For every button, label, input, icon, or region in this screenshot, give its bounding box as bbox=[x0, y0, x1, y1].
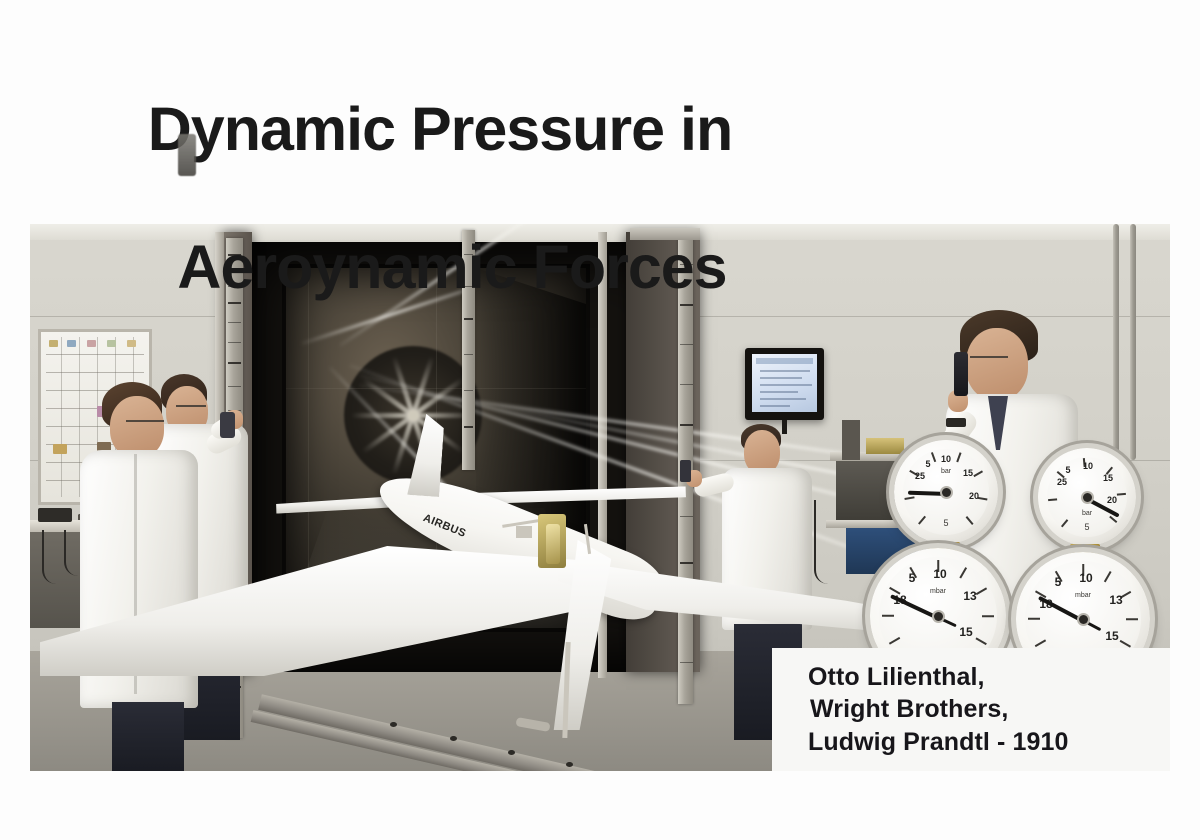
control-box bbox=[866, 438, 904, 454]
pressure-gauge-top-right: 5 10 15 20 25 bar 5 bbox=[1038, 448, 1136, 546]
gauge-unit: 5 bbox=[1084, 522, 1089, 532]
caption-line-1: Otto Lilienthal, bbox=[808, 661, 1170, 694]
gauge-number: 10 bbox=[933, 567, 946, 581]
title-line-1: Dynamic Pressure in bbox=[0, 95, 880, 164]
gauge-number: 20 bbox=[969, 491, 979, 501]
gauge-brand: bar bbox=[941, 468, 951, 475]
gauge-number: 10 bbox=[1083, 461, 1093, 471]
gauge-number: 15 bbox=[963, 468, 973, 478]
gauge-brand: mbar bbox=[1075, 592, 1091, 599]
bench-device bbox=[38, 508, 72, 522]
caption-line-2: Wright Brothers, bbox=[808, 693, 1170, 726]
rail-control-handle bbox=[220, 412, 235, 438]
handheld-radio bbox=[954, 352, 968, 396]
gauge-number: 5 bbox=[925, 459, 930, 469]
gauge-brand: bar bbox=[1082, 510, 1092, 517]
gauge-unit: 5 bbox=[943, 518, 948, 528]
floor-cable bbox=[814, 500, 834, 584]
wristwatch bbox=[946, 418, 966, 427]
gauge-number: 20 bbox=[1107, 495, 1117, 505]
pressure-gauge-top-left: 5 10 15 20 25 bar 5 bbox=[894, 440, 998, 544]
gauge-number: 5 bbox=[909, 571, 916, 585]
title-overlay-artifact bbox=[178, 134, 196, 176]
sensor-module bbox=[546, 524, 560, 564]
gauge-number: 5 bbox=[1065, 465, 1070, 475]
gauge-number: 5 bbox=[1055, 575, 1062, 589]
gauge-number: 13 bbox=[963, 589, 976, 603]
mount-block bbox=[516, 526, 532, 538]
gauge-number: 15 bbox=[1105, 629, 1118, 643]
wall-pipe bbox=[1130, 224, 1136, 460]
caption-box: Otto Lilienthal, Wright Brothers, Ludwig… bbox=[772, 648, 1170, 771]
wall-pipe bbox=[1113, 224, 1119, 454]
handheld-device bbox=[680, 460, 691, 482]
gauge-brand: mbar bbox=[930, 588, 946, 595]
monitor-stand bbox=[782, 420, 787, 434]
gauge-number: 25 bbox=[915, 471, 925, 481]
wall-bracket bbox=[842, 420, 860, 460]
caption-line-3: Ludwig Prandtl - 1910 bbox=[808, 726, 1170, 759]
gauge-number: 15 bbox=[1103, 473, 1113, 483]
page-title: Dynamic Pressure in Aeroynamic Forces bbox=[0, 26, 880, 371]
gauge-number: 10 bbox=[941, 454, 951, 464]
gauge-number: 15 bbox=[959, 625, 972, 639]
title-line-2: Aeroynamic Forces bbox=[24, 233, 880, 302]
gauge-number: 25 bbox=[1057, 477, 1067, 487]
gauge-number: 10 bbox=[1079, 571, 1092, 585]
gauge-number: 13 bbox=[1109, 593, 1122, 607]
